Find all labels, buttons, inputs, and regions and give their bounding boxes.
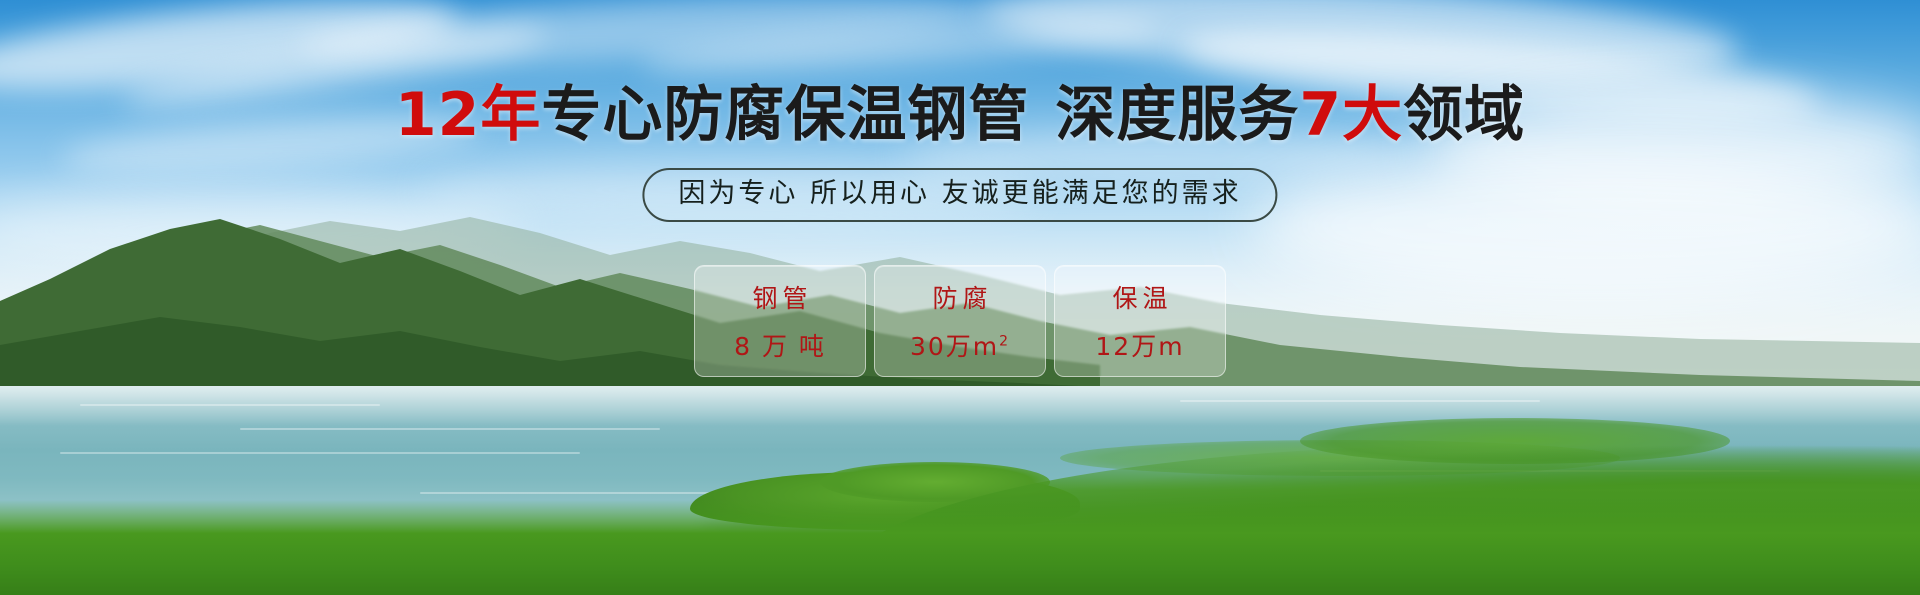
stat-card-value: 30万m2 xyxy=(910,327,1010,363)
stat-card-label: 保温 xyxy=(1107,279,1172,315)
stat-card-label: 防腐 xyxy=(927,279,992,315)
stat-card-value-exponent: 2 xyxy=(999,334,1010,350)
headline: 12年专心防腐保温钢管深度服务7大领域 xyxy=(0,83,1920,147)
stat-card-value: 12万m xyxy=(1095,327,1184,363)
stat-card-anticorrosion[interactable]: 防腐 30万m2 xyxy=(874,265,1046,377)
headline-fields-highlight: 7大 xyxy=(1299,80,1403,150)
stat-card-insulation[interactable]: 保温 12万m xyxy=(1054,265,1226,377)
subtitle-text: 因为专心 所以用心 友诚更能满足您的需求 xyxy=(678,177,1241,211)
stat-card-group: 钢管 8 万 吨 防腐 30万m2 保温 12万m xyxy=(694,265,1226,377)
foreground-grass-strip xyxy=(0,500,1920,595)
headline-fields-text: 领域 xyxy=(1403,80,1525,150)
water-ripple xyxy=(1180,400,1540,402)
headline-years-highlight: 12年 xyxy=(395,80,542,150)
water-ripple xyxy=(240,428,660,430)
stat-card-value-text: 8 万 吨 xyxy=(734,332,826,361)
stat-card-value-text: 30万m xyxy=(910,332,999,361)
headline-main-text: 专心防腐保温钢管 xyxy=(541,80,1029,150)
headline-service-text: 深度服务 xyxy=(1055,80,1299,150)
water-ripple xyxy=(80,404,380,406)
subtitle-pill: 因为专心 所以用心 友诚更能满足您的需求 xyxy=(642,168,1277,222)
stat-card-label: 钢管 xyxy=(747,279,812,315)
stat-card-value: 8 万 吨 xyxy=(734,327,826,363)
water-ripple xyxy=(60,452,580,454)
hero-banner: 12年专心防腐保温钢管深度服务7大领域 因为专心 所以用心 友诚更能满足您的需求… xyxy=(0,0,1920,595)
stat-card-steel-pipe[interactable]: 钢管 8 万 吨 xyxy=(694,265,866,377)
stat-card-value-text: 12万m xyxy=(1095,332,1184,361)
